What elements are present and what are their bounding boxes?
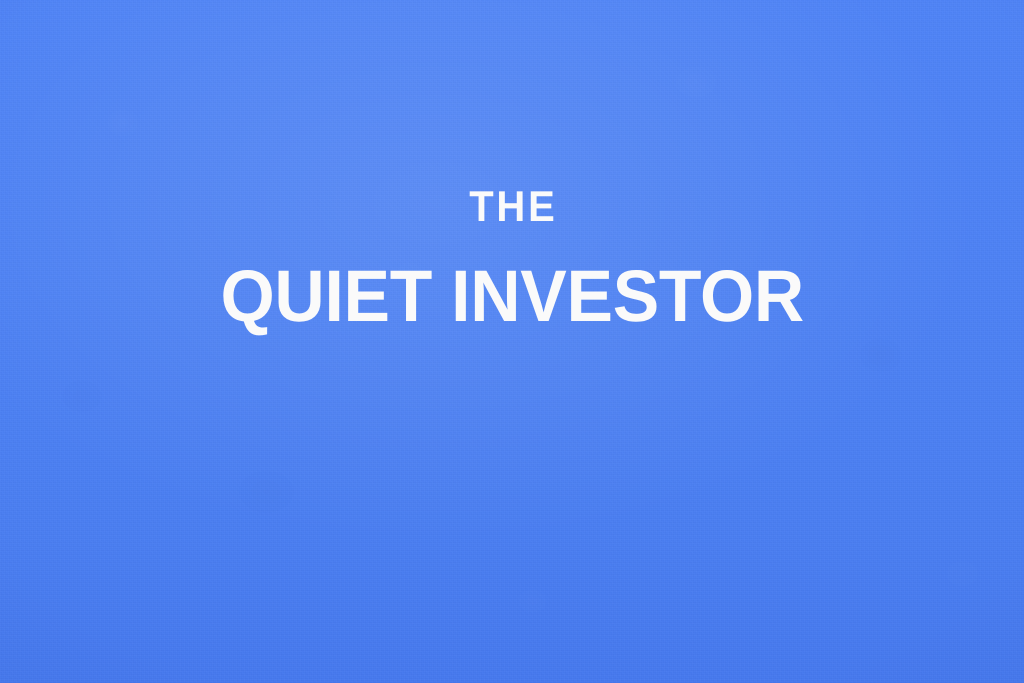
page-title: QUIET INVESTOR (220, 260, 803, 333)
title-card-slide: THE QUIET INVESTOR (0, 0, 1024, 683)
title-block: THE QUIET INVESTOR (0, 186, 1024, 333)
eyebrow-text: THE (466, 186, 557, 229)
background-base-fill (0, 0, 1024, 683)
